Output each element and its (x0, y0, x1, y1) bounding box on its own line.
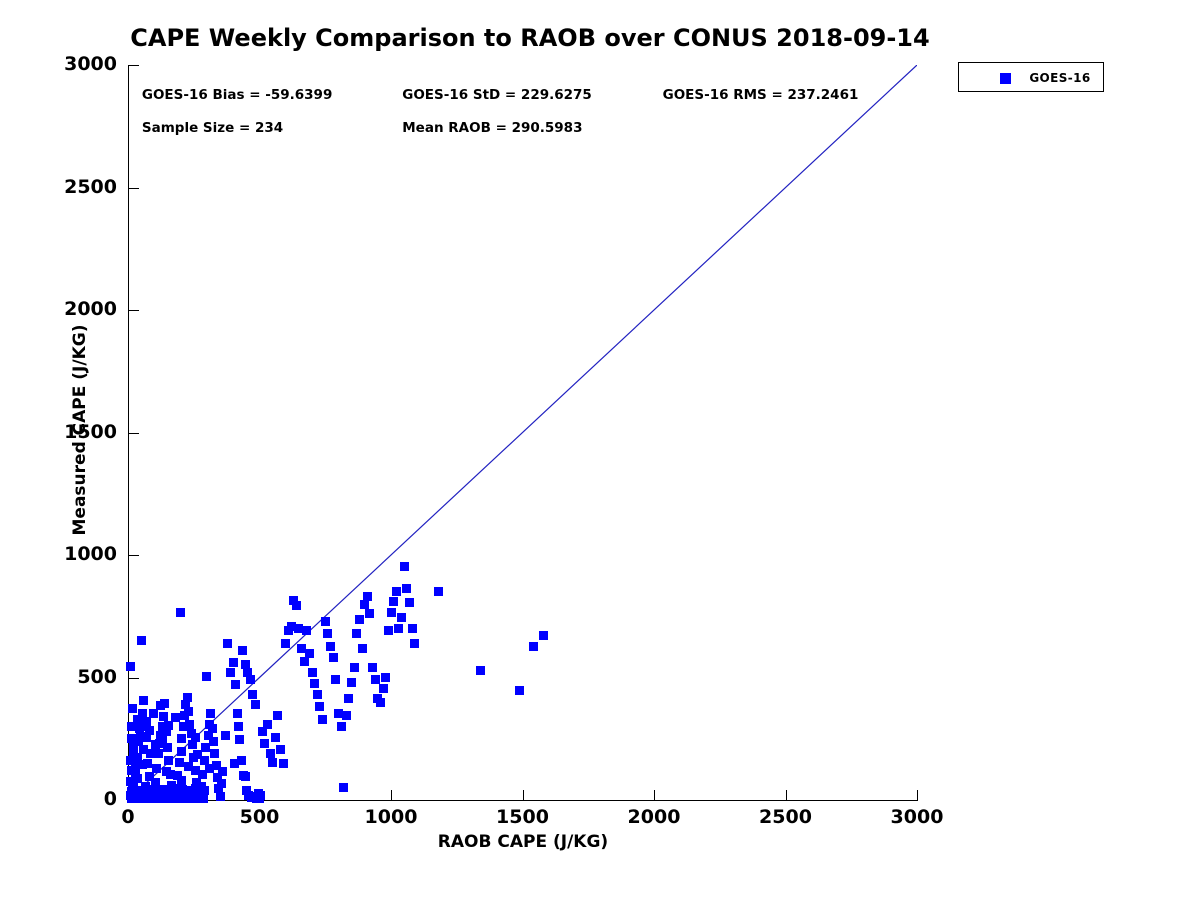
data-point (476, 666, 485, 675)
data-point (363, 592, 372, 601)
data-point (305, 649, 314, 658)
data-point (529, 642, 538, 651)
data-point (184, 762, 193, 771)
data-point (128, 704, 137, 713)
x-tick-label-0: 0 (83, 806, 173, 828)
data-point (350, 663, 359, 672)
data-point (405, 598, 414, 607)
x-tick-label-1500: 1500 (478, 806, 568, 828)
chart-title: CAPE Weekly Comparison to RAOB over CONU… (0, 24, 1060, 52)
data-point (246, 675, 255, 684)
data-point (171, 713, 180, 722)
data-point (191, 733, 200, 742)
data-point (344, 694, 353, 703)
data-point (539, 631, 548, 640)
data-point (352, 629, 361, 638)
data-point (177, 734, 186, 743)
data-point (241, 772, 250, 781)
data-point (129, 743, 138, 752)
data-point (241, 660, 250, 669)
data-point (152, 764, 161, 773)
data-point (154, 749, 163, 758)
y-axis-label: Measured CAPE (J/KG) (70, 110, 90, 750)
plot-area (128, 65, 917, 800)
data-point (402, 584, 411, 593)
data-point (281, 639, 290, 648)
data-point (221, 731, 230, 740)
chart-canvas: CAPE Weekly Comparison to RAOB over CONU… (0, 0, 1200, 900)
data-point (233, 709, 242, 718)
data-point (381, 673, 390, 682)
data-point (235, 735, 244, 744)
data-point (329, 653, 338, 662)
data-point (248, 690, 257, 699)
data-point (300, 657, 309, 666)
data-point (162, 767, 171, 776)
data-point (126, 662, 135, 671)
data-point (331, 675, 340, 684)
data-point (515, 686, 524, 695)
data-point (254, 789, 263, 798)
data-point (434, 587, 443, 596)
data-point (260, 739, 269, 748)
data-point (184, 707, 193, 716)
data-point (342, 711, 351, 720)
data-point (164, 756, 173, 765)
data-point (206, 709, 215, 718)
data-point (347, 678, 356, 687)
data-point (271, 733, 280, 742)
data-point (315, 702, 324, 711)
legend-marker-goes-16-icon (1000, 73, 1011, 84)
data-point (138, 760, 147, 769)
data-point (216, 792, 225, 801)
data-point (205, 764, 214, 773)
data-point (310, 679, 319, 688)
data-point (387, 608, 396, 617)
data-point (223, 639, 232, 648)
x-tick-label-2000: 2000 (609, 806, 699, 828)
x-axis-label: RAOB CAPE (J/KG) (128, 832, 918, 852)
data-point (209, 737, 218, 746)
data-point (158, 734, 167, 743)
data-point (394, 624, 403, 633)
data-point (142, 717, 151, 726)
data-point (185, 720, 194, 729)
data-point (183, 693, 192, 702)
data-point (231, 680, 240, 689)
data-point (339, 783, 348, 792)
data-point (365, 609, 374, 618)
data-point (273, 711, 282, 720)
data-point (276, 745, 285, 754)
data-point (263, 720, 272, 729)
data-point (313, 690, 322, 699)
data-point (379, 684, 388, 693)
data-point (326, 642, 335, 651)
data-point (229, 658, 238, 667)
data-point (321, 617, 330, 626)
data-point (251, 700, 260, 709)
data-point (193, 750, 202, 759)
data-point (358, 644, 367, 653)
data-point (400, 562, 409, 571)
data-point (279, 759, 288, 768)
data-point (226, 668, 235, 677)
data-point (384, 626, 393, 635)
data-point (234, 722, 243, 731)
data-point (376, 698, 385, 707)
data-point (156, 701, 165, 710)
data-point (355, 615, 364, 624)
x-tick-label-3000: 3000 (872, 806, 962, 828)
data-point (177, 747, 186, 756)
data-point (202, 672, 211, 681)
stat-sample: Sample Size = 234 (142, 120, 283, 136)
data-point (268, 758, 277, 767)
data-point (392, 587, 401, 596)
x-tick-label-500: 500 (215, 806, 305, 828)
data-point (136, 732, 145, 741)
legend-label-goes-16: GOES-16 (1023, 71, 1097, 85)
x-tick-label-2500: 2500 (741, 806, 831, 828)
data-point (389, 597, 398, 606)
data-point (139, 696, 148, 705)
data-point (133, 774, 142, 783)
stat-rms: GOES-16 RMS = 237.2461 (663, 87, 859, 103)
data-point (217, 779, 226, 788)
data-point (408, 624, 417, 633)
data-point (238, 646, 247, 655)
stat-mean: Mean RAOB = 290.5983 (402, 120, 582, 136)
data-point (200, 786, 209, 795)
x-tick-3000 (917, 790, 918, 801)
data-point (176, 608, 185, 617)
data-point (218, 767, 227, 776)
data-point (208, 724, 217, 733)
stat-std: GOES-16 StD = 229.6275 (402, 87, 592, 103)
data-point (292, 601, 301, 610)
data-point (163, 743, 172, 752)
y-tick-label-3000: 3000 (27, 53, 117, 75)
data-point (146, 749, 155, 758)
data-point (337, 722, 346, 731)
data-point (368, 663, 377, 672)
data-point (302, 626, 311, 635)
stat-bias: GOES-16 Bias = -59.6399 (142, 87, 332, 103)
data-point (308, 668, 317, 677)
data-point (175, 758, 184, 767)
x-tick-label-1000: 1000 (346, 806, 436, 828)
data-point (210, 749, 219, 758)
data-point (177, 776, 186, 785)
data-point (137, 636, 146, 645)
data-point (323, 629, 332, 638)
data-point (318, 715, 327, 724)
data-point (397, 613, 406, 622)
data-point (145, 726, 154, 735)
data-point (230, 759, 239, 768)
legend[interactable]: GOES-16 (958, 62, 1104, 92)
data-point (410, 639, 419, 648)
